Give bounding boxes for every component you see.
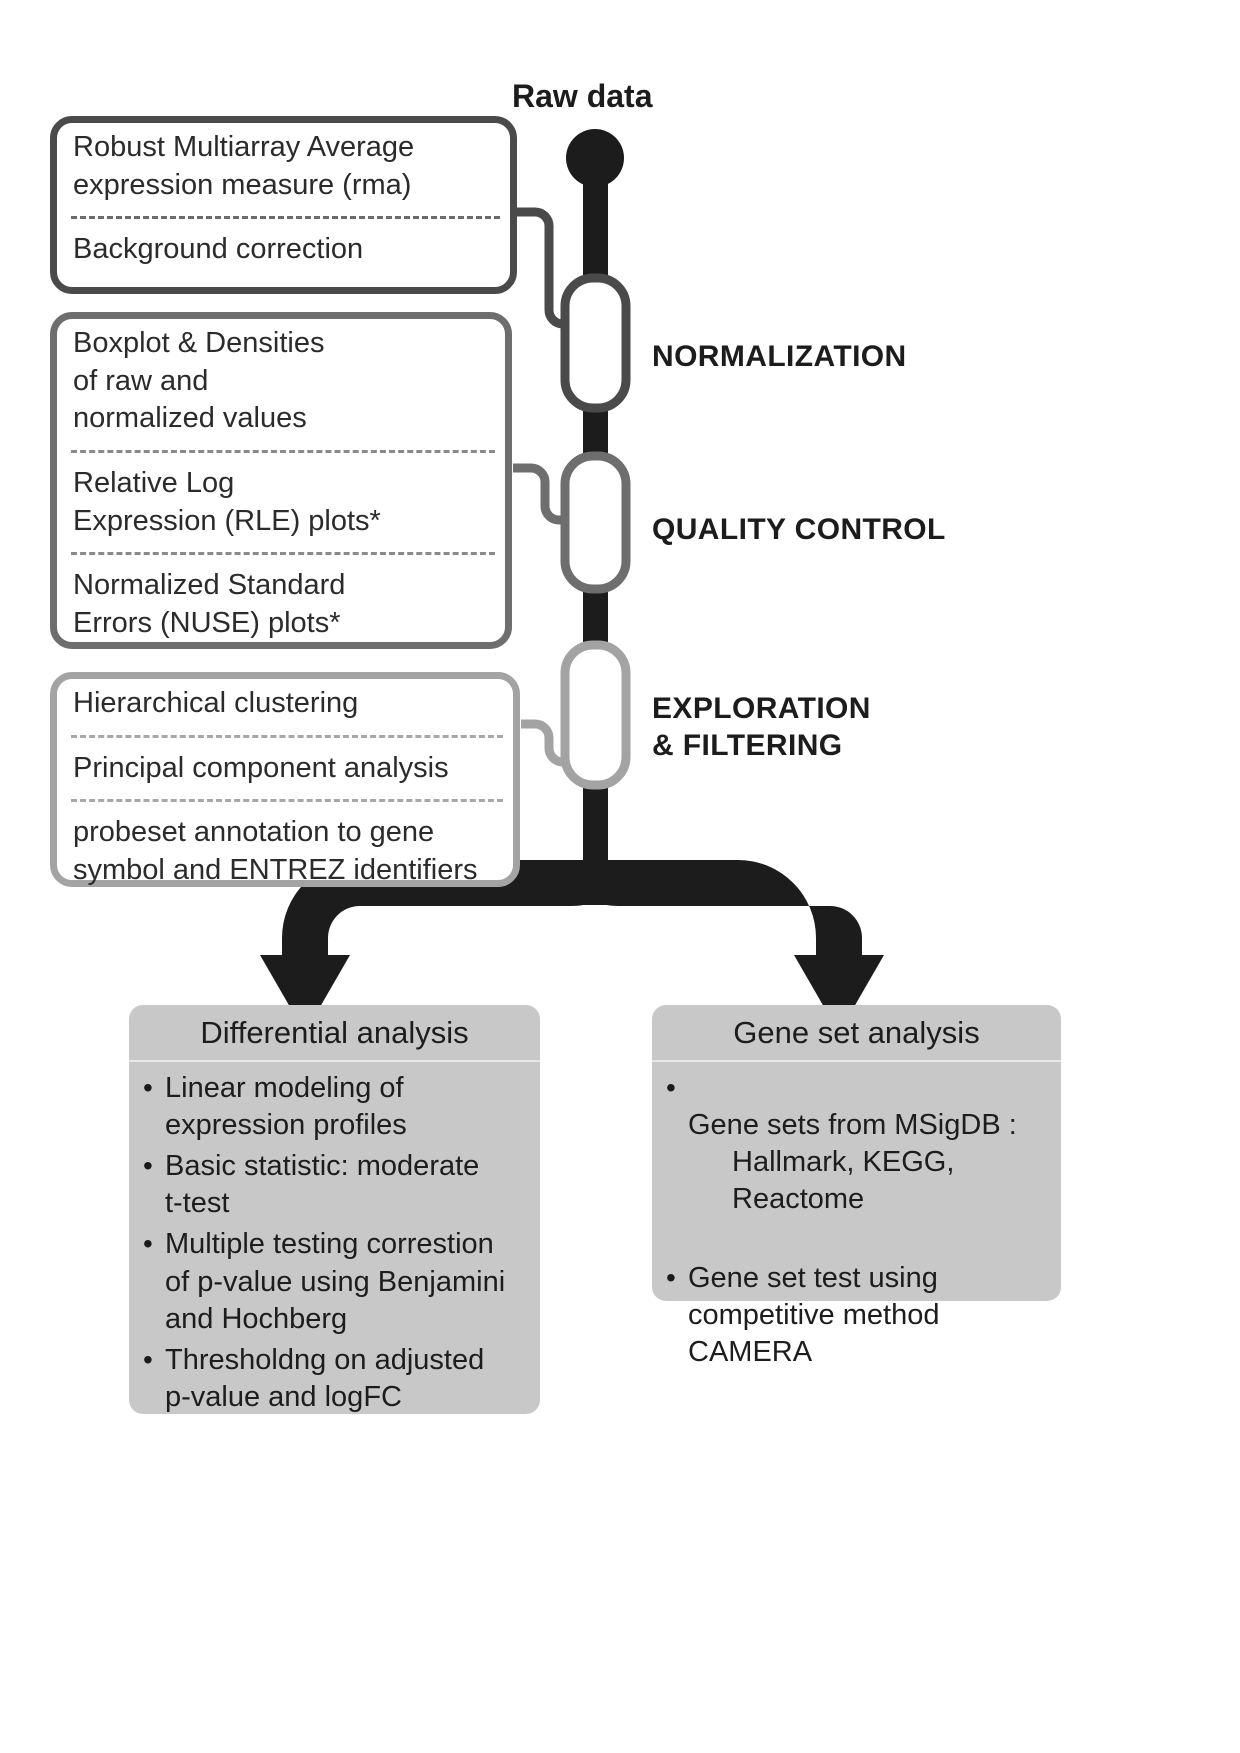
bullet-icon: • [666,1260,688,1296]
bullet-icon: • [143,1070,165,1106]
raw-data-node [566,129,624,187]
stage-label-exploration-filtering: EXPLORATION & FILTERING [652,690,871,764]
stage-box-normalization[interactable]: Robust Multiarray Average expression mea… [50,116,517,294]
list-item-text: Thresholdng on adjusted p-value and logF… [165,1342,526,1416]
stage-item-text: probeset annotation to gene symbol and E… [57,814,513,889]
item-divider [71,216,500,219]
list-item: • Gene set test using competitive method… [666,1260,1047,1371]
panel-body: • Gene sets from MSigDB : Hallmark, KEGG… [652,1062,1061,1391]
stage-label-quality-control: QUALITY CONTROL [652,511,946,548]
panel-title: Gene set analysis [652,1005,1061,1062]
panel-body: • Linear modeling of expression profiles… [129,1062,540,1436]
stage-item: Background correction [57,225,510,275]
item-divider [71,735,503,738]
list-item: • Basic statistic: moderate t-test [143,1148,526,1222]
page-title: Raw data [512,78,652,115]
panel-gene-set-analysis[interactable]: Gene set analysis • Gene sets from MSigD… [652,1005,1061,1301]
stage-item-text: Principal component analysis [57,750,513,788]
stage-item-text: Robust Multiarray Average expression mea… [57,129,510,204]
list-item-text: Gene set test using competitive method C… [688,1260,1047,1371]
stage-item: Hierarchical clustering [57,679,513,729]
stage-item-text: Background correction [57,231,510,269]
stage-box-quality-control[interactable]: Boxplot & Densities of raw and normalize… [50,312,512,649]
quality-control-connector [513,468,566,520]
list-item-continuation: Hallmark, KEGG, Reactome [688,1144,1047,1218]
stage-item: Robust Multiarray Average expression mea… [57,123,510,210]
list-item-text: Linear modeling of expression profiles [165,1070,526,1144]
list-item: • Gene sets from MSigDB : Hallmark, KEGG… [666,1070,1047,1256]
panel-title: Differential analysis [129,1005,540,1062]
list-item: • Linear modeling of expression profiles [143,1070,526,1144]
list-item: • Multiple testing correstion of p-value… [143,1226,526,1337]
bullet-icon: • [143,1342,165,1378]
stage-box-exploration-filtering[interactable]: Hierarchical clustering Principal compon… [50,672,520,887]
list-item-text: Gene sets from MSigDB : Hallmark, KEGG, … [688,1070,1047,1256]
normalization-pill [565,278,626,408]
normalization-connector [517,212,566,324]
quality-control-pill [565,456,626,589]
item-divider [71,552,495,555]
stage-item: Principal component analysis [57,744,513,794]
stage-item-text: Relative Log Expression (RLE) plots* [57,465,505,540]
diagram-canvas: Raw data Robust Multiarray Average expre… [0,0,1240,1753]
exploration-pill [565,645,626,785]
list-item-text: Basic statistic: moderate t-test [165,1148,526,1222]
bullet-icon: • [143,1148,165,1184]
stage-item-text: Hierarchical clustering [57,685,513,723]
item-divider [71,450,495,453]
stage-item-text: Normalized Standard Errors (NUSE) plots* [57,567,505,642]
bullet-icon: • [666,1070,688,1106]
exploration-connector [521,724,566,762]
list-item: • Thresholdng on adjusted p-value and lo… [143,1342,526,1416]
list-item-text: Multiple testing correstion of p-value u… [165,1226,526,1337]
item-divider [71,799,503,802]
panel-differential-analysis[interactable]: Differential analysis • Linear modeling … [129,1005,540,1414]
stage-item: Relative Log Expression (RLE) plots* [57,459,505,546]
stage-label-normalization: NORMALIZATION [652,338,907,375]
stage-item: Boxplot & Densities of raw and normalize… [57,319,505,444]
stage-item-text: Boxplot & Densities of raw and normalize… [57,325,505,438]
list-item-lead: Gene sets from MSigDB : [688,1109,1017,1141]
stage-item: probeset annotation to gene symbol and E… [57,808,513,895]
bullet-icon: • [143,1226,165,1262]
stage-item: Normalized Standard Errors (NUSE) plots* [57,561,505,648]
